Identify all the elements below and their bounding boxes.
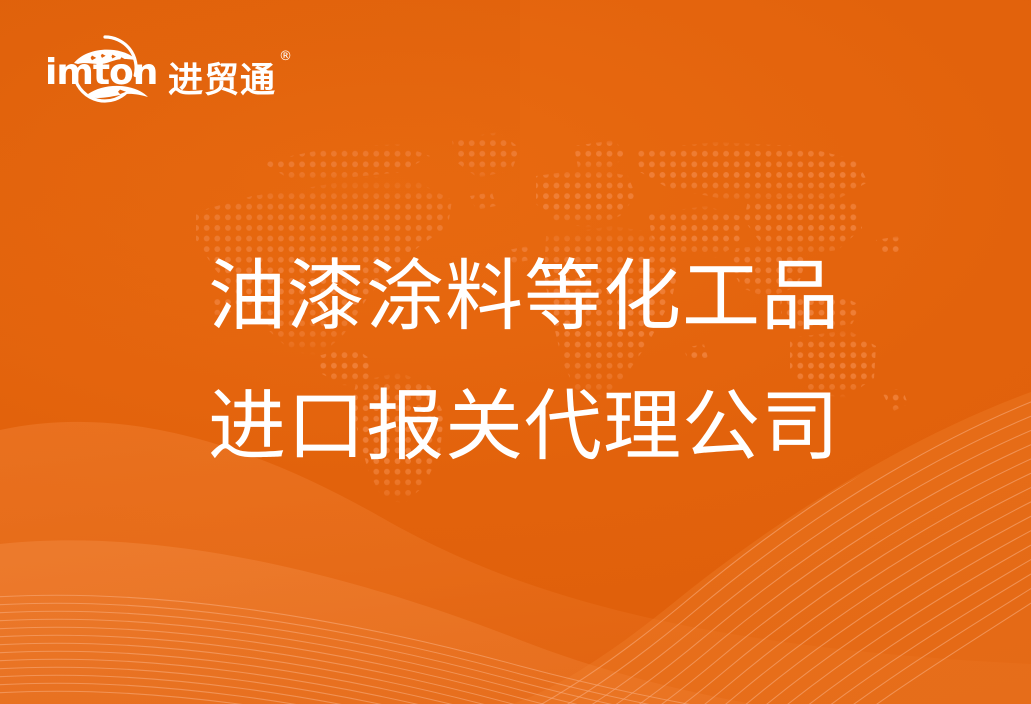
headline-line-1: 油漆涂料等化工品 [208, 232, 840, 362]
logo-wordmark-chinese: 进贸通 ® [168, 64, 276, 105]
headline-block: 油漆涂料等化工品 进口报关代理公司 [208, 232, 840, 492]
registered-trademark-icon: ® [279, 50, 293, 63]
headline-line-2: 进口报关代理公司 [208, 362, 840, 492]
logo-wordmark-chinese-text: 进贸通 [168, 61, 276, 101]
globe-swoosh-icon: imton [44, 31, 166, 105]
svg-text:imton: imton [45, 52, 157, 93]
banner-canvas: imton 进贸通 ® 油漆涂料等化工品 进口报关代理公司 [0, 0, 1031, 704]
company-logo[interactable]: imton 进贸通 ® [44, 31, 276, 105]
